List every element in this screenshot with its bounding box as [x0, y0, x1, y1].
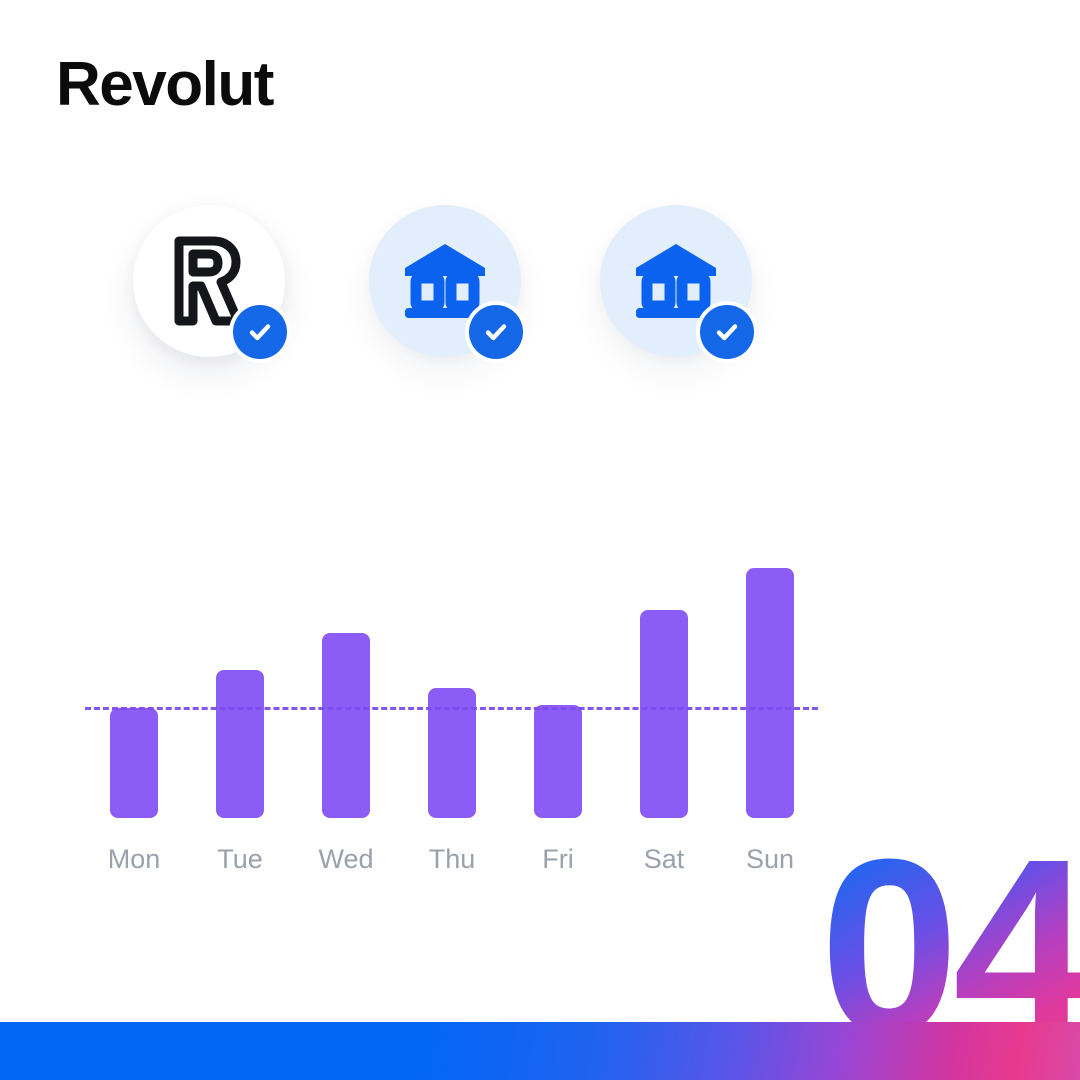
chart-bar-sat[interactable]: [640, 610, 688, 818]
slide-canvas: Revolut: [0, 0, 1080, 1080]
chart-bar-tue[interactable]: [216, 670, 264, 818]
chart-average-reference-line: [85, 707, 818, 710]
chart-bar-wed[interactable]: [322, 633, 370, 818]
chart-bar-sun[interactable]: [746, 568, 794, 818]
chart-bar-fri[interactable]: [534, 705, 582, 818]
chart-bar-mon[interactable]: [110, 708, 158, 818]
bottom-gradient-bar: [0, 1022, 1080, 1080]
